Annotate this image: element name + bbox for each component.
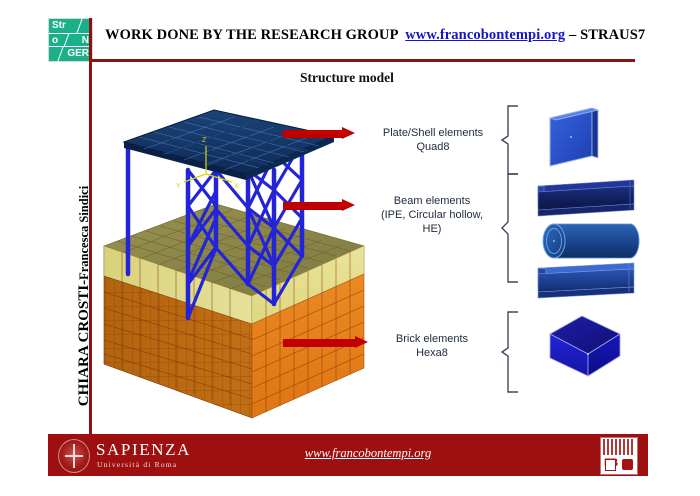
element-picture-plate-shell <box>540 104 620 179</box>
stronger-logo: Str o N GER <box>48 18 93 62</box>
header-title-suffix: – STRAUS7 <box>569 27 645 43</box>
logo-text-n: N <box>82 34 89 48</box>
annotation-brick: Brick elements Hexa8 <box>372 332 492 360</box>
brace-beam <box>500 172 522 284</box>
arrow-shaft <box>283 202 342 210</box>
brace-brick <box>500 310 522 394</box>
header-link[interactable]: www.francobontempi.org <box>405 27 565 43</box>
annotation-line-1: Plate/Shell elements <box>372 126 494 140</box>
arrow-shaft <box>283 130 342 138</box>
slide-canvas: Str o N GER WORK DONE BY THE RESEARCH GR… <box>0 0 700 496</box>
annotation-line-3: HE) <box>364 222 500 236</box>
page-title: WORK DONE BY THE RESEARCH GROUP www.fran… <box>105 27 625 49</box>
arrow-shaft <box>283 339 355 347</box>
model-svg: Z Y X <box>96 96 376 436</box>
author-separator: - <box>76 280 92 285</box>
logo-row-2: o N <box>49 33 92 47</box>
sapienza-subtitle: Università di Roma <box>97 460 177 469</box>
footer-link[interactable]: www.francobontempi.org <box>248 446 488 461</box>
footer-bar: SAPIENZA Università di Roma www.francobo… <box>48 434 648 476</box>
structure-model-graphic: Z Y X <box>96 96 376 436</box>
axis-label-z: Z <box>202 137 207 144</box>
annotation-line-1: Beam elements <box>364 194 500 208</box>
logo-slash-icon-3 <box>57 46 63 61</box>
author-name-primary: CHIARA CROSTI <box>76 285 92 406</box>
logo-slash-icon-1 <box>76 18 82 33</box>
element-picture-hexa-brick <box>540 312 630 389</box>
logo-pattern-icon <box>603 439 635 455</box>
arrow-head-icon <box>342 127 355 139</box>
annotation-line-1: Brick elements <box>372 332 492 346</box>
axis-label-y: Y <box>176 183 181 190</box>
brace-plate-shell <box>500 104 522 176</box>
annotation-plate-shell: Plate/Shell elements Quad8 <box>372 126 494 154</box>
logo-row-1: Str <box>49 19 92 33</box>
author-vertical-label: CHIARA CROSTI-Francesca Sindici <box>76 146 98 446</box>
author-name-secondary: Francesca Sindici <box>77 186 91 280</box>
header-title-prefix: WORK DONE BY THE RESEARCH GROUP <box>105 27 398 43</box>
logo-slash-icon-2 <box>64 33 70 46</box>
slide-title: Structure model <box>300 70 500 90</box>
logo-text-ger: GER <box>67 47 89 61</box>
annotation-line-2: (IPE, Circular hollow, <box>364 208 500 222</box>
logo-row-3: GER <box>49 47 92 61</box>
logo-white-square-icon <box>605 459 616 471</box>
arrow-beam <box>283 199 355 212</box>
element-picture-i-beam <box>534 178 638 223</box>
axis-label-x: X <box>234 183 239 190</box>
element-picture-h-beam <box>534 262 638 305</box>
logo-text-str: Str <box>52 19 66 33</box>
annotation-line-2: Quad8 <box>372 140 494 154</box>
logo-text-o: o <box>52 34 58 48</box>
sapienza-wordmark: SAPIENZA <box>96 440 191 460</box>
arrow-head-icon <box>342 199 355 211</box>
sapienza-seal-icon <box>58 439 90 473</box>
annotation-beam: Beam elements (IPE, Circular hollow, HE) <box>364 194 500 236</box>
arrow-head-icon <box>355 336 368 348</box>
arrow-brick <box>283 336 368 349</box>
annotation-line-2: Hexa8 <box>372 346 492 360</box>
arrow-plate-shell <box>283 127 355 140</box>
francobontempi-logo: FB <box>600 437 638 475</box>
header-divider <box>90 59 635 62</box>
logo-red-dot-icon <box>622 459 633 470</box>
